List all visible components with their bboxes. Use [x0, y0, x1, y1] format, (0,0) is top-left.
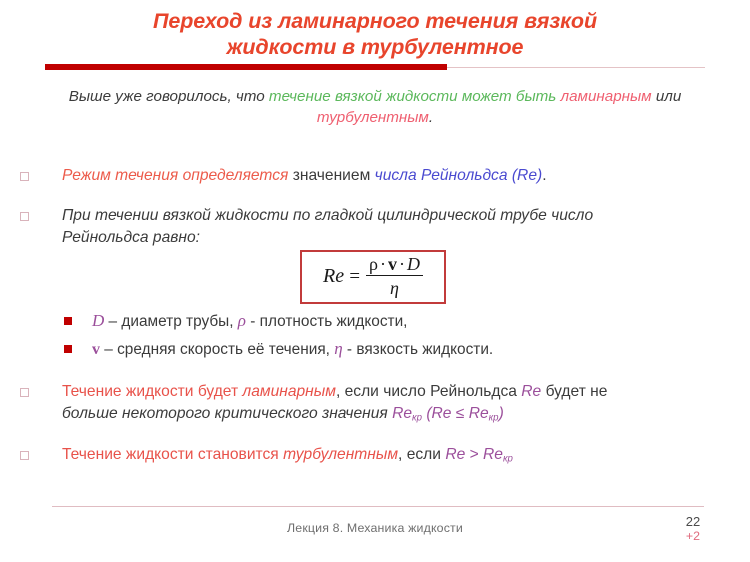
filled-square-bullet-icon: [64, 317, 72, 325]
page-increment-badge: +2: [670, 529, 716, 544]
re-critical-1: Reкр: [392, 405, 422, 422]
sub-bullet-velocity-viscosity: v – средняя скорость её течения, η - вяз…: [16, 337, 736, 361]
hollow-square-bullet-icon: [20, 212, 29, 221]
laminar-dark-1: , если число Рейнольдса: [336, 383, 521, 400]
laminar-keyword: ламинарным: [242, 383, 336, 400]
bullet-turbulent-condition: Течение жидкости становится турбулентным…: [16, 444, 736, 471]
symbol-rho: ρ: [369, 254, 378, 274]
page-number: 22: [670, 514, 716, 529]
slide-title: Переход из ламинарного течения вязкой жи…: [0, 8, 750, 60]
hollow-square-bullet-icon: [20, 388, 29, 397]
laminar-re-symbol: Re: [521, 383, 541, 400]
bullet-pipe-flow: При течении вязкой жидкости по гладкой ц…: [16, 205, 736, 249]
body-content: Режим течения определяется значением чис…: [16, 165, 736, 476]
symbol-v: v: [388, 254, 397, 274]
sub-bullet-diameter-density: D – диаметр трубы, ρ - плотность жидкост…: [16, 309, 736, 333]
bullet-regime-tail: .: [542, 167, 546, 184]
laminar-dark-2: будет не: [541, 383, 607, 400]
paren-open: (: [422, 405, 432, 422]
intro-segment-period: .: [429, 109, 433, 126]
sub-text-diameter: – диаметр трубы,: [104, 313, 238, 330]
laminar-red: Течение жидкости будет: [62, 383, 242, 400]
bullet-text-pipe-line2: Рейнольдса равно:: [62, 227, 736, 249]
hollow-square-bullet-icon: [20, 172, 29, 181]
bullet-regime-blue: числа Рейнольдса (Re): [375, 167, 543, 184]
dot-2: ·: [397, 254, 407, 274]
turbulent-red: Течение жидкости становится: [62, 446, 283, 463]
intro-segment-laminar: ламинарным: [561, 88, 652, 105]
bullet-regime-red: Режим течения определяется: [62, 167, 293, 184]
intro-segment-turbulent: турбулентным: [317, 109, 429, 126]
turbulent-condition-text: Течение жидкости становится турбулентным…: [62, 446, 513, 463]
variable-D: D: [92, 311, 104, 330]
reynolds-formula-box: Re= ρ·v·D η: [300, 250, 446, 304]
symbol-D: D: [407, 254, 420, 274]
laminar-line2-dark: больше некоторого критического значения: [62, 405, 392, 422]
intro-paragraph: Выше уже говорилось, что течение вязкой …: [30, 86, 720, 128]
footer-divider: [52, 506, 704, 507]
re-base-2: Re: [469, 405, 489, 422]
re-subscript-1: кр: [412, 413, 422, 424]
turbulent-dark: , если: [398, 446, 445, 463]
intro-segment-green: течение вязкой жидкости может быть: [269, 88, 561, 105]
bullet-text-pipe-line1: При течении вязкой жидкости по гладкой ц…: [62, 207, 593, 224]
re-critical-2: Reкр: [469, 405, 499, 422]
re-base-1: Re: [392, 405, 412, 422]
re-symbol-2: Re: [432, 405, 452, 422]
intro-segment-lead: Выше уже говорилось, что: [69, 88, 269, 105]
turbulent-re-critical: Reкр: [483, 446, 513, 463]
footer-lecture-title: Лекция 8. Механика жидкости: [0, 521, 750, 535]
bullet-regime-dark: значением: [293, 167, 375, 184]
sub-bullet-text-1: D – диаметр трубы, ρ - плотность жидкост…: [92, 313, 407, 330]
title-line-1: Переход из ламинарного течения вязкой: [0, 8, 750, 34]
laminar-condition-line2: больше некоторого критического значения …: [62, 403, 736, 430]
turbulent-re-1: Re: [445, 446, 465, 463]
hollow-square-bullet-icon: [20, 451, 29, 460]
turbulent-keyword: турбулентным: [283, 446, 398, 463]
sub-bullet-text-2: v – средняя скорость её течения, η - вяз…: [92, 341, 493, 358]
re-subscript-2: кр: [489, 413, 499, 424]
filled-square-bullet-icon: [64, 345, 72, 353]
le-operator: ≤: [451, 405, 468, 422]
sub-text-viscosity: - вязкость жидкости.: [343, 341, 494, 358]
formula-lhs-Re: Re: [323, 265, 344, 288]
paren-close: ): [499, 405, 504, 422]
formula-denominator-eta: η: [387, 276, 402, 297]
variable-rho: ρ: [238, 311, 246, 330]
sub-text-density: - плотность жидкости,: [246, 313, 408, 330]
bullet-laminar-condition: Течение жидкости будет ламинарным, если …: [16, 381, 736, 430]
laminar-condition-line1: Течение жидкости будет ламинарным, если …: [62, 383, 607, 400]
title-divider: [45, 64, 705, 71]
variable-eta: η: [334, 339, 342, 358]
re-subscript-3: кр: [503, 453, 513, 464]
bullet-reynolds-regime: Режим течения определяется значением чис…: [16, 165, 736, 187]
dot-1: ·: [378, 254, 388, 274]
variable-v: v: [92, 341, 100, 358]
slide-canvas: Переход из ламинарного течения вязкой жи…: [0, 0, 750, 562]
gt-operator: >: [465, 446, 483, 463]
intro-segment-or: или: [652, 88, 682, 105]
reynolds-formula: Re= ρ·v·D η: [323, 256, 423, 298]
re-base-3: Re: [483, 446, 503, 463]
formula-numerator: ρ·v·D: [366, 255, 423, 275]
formula-equals-sign: =: [348, 266, 361, 288]
bullet-text-regime: Режим течения определяется значением чис…: [62, 167, 547, 184]
formula-fraction: ρ·v·D η: [366, 255, 423, 297]
title-divider-accent-bar: [45, 64, 447, 70]
sub-text-velocity: – средняя скорость её течения,: [100, 341, 334, 358]
title-line-2: жидкости в турбулентное: [0, 34, 750, 60]
